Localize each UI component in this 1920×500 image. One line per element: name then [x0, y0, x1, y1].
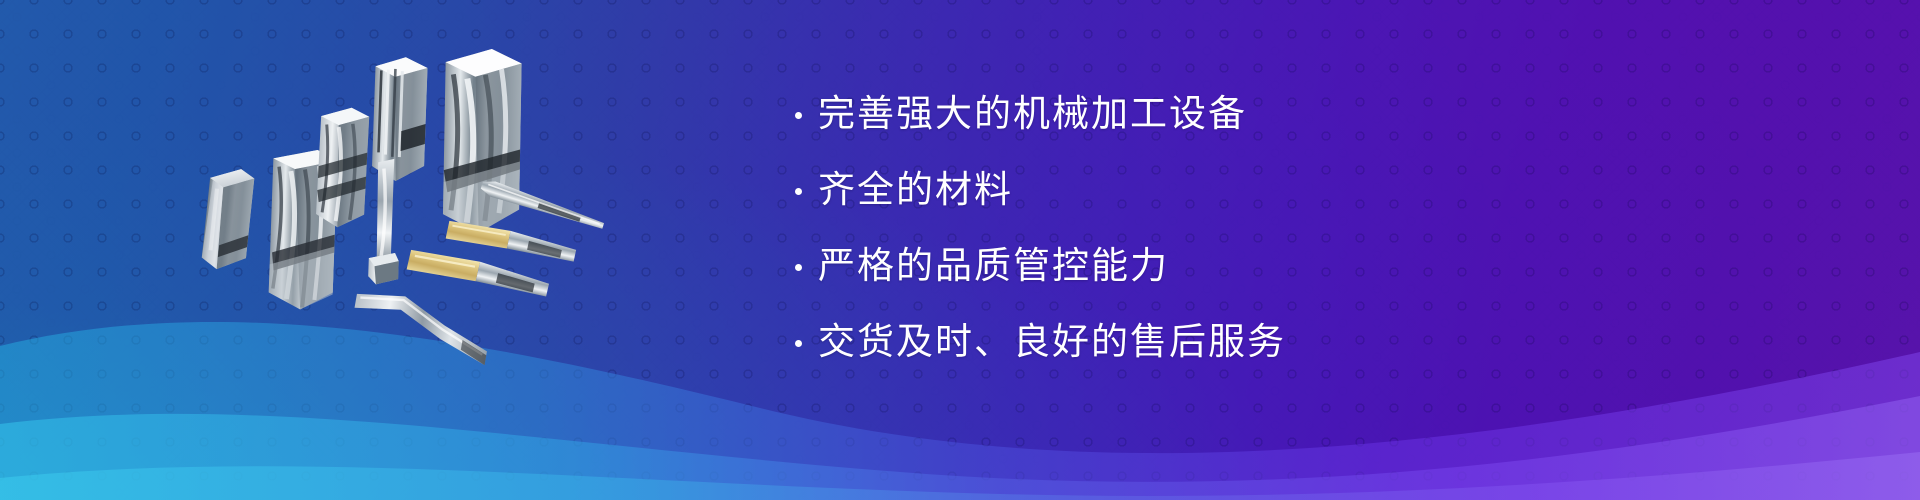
bullet-dot-icon	[795, 264, 802, 271]
feature-text: 交货及时、良好的售后服务	[818, 324, 1286, 361]
promo-banner: 完善强大的机械加工设备 齐全的材料 严格的品质管控能力 交货及时、良好的售后服务	[0, 0, 1920, 500]
feature-list-item: 严格的品质管控能力	[795, 238, 1495, 295]
feature-list-item: 完善强大的机械加工设备	[795, 86, 1495, 143]
bullet-dot-icon	[795, 188, 802, 195]
feature-list-item: 交货及时、良好的售后服务	[795, 314, 1495, 371]
feature-list: 完善强大的机械加工设备 齐全的材料 严格的品质管控能力 交货及时、良好的售后服务	[795, 86, 1495, 371]
feature-text: 齐全的材料	[818, 172, 1013, 209]
bullet-dot-icon	[795, 340, 802, 347]
feature-list-item: 齐全的材料	[795, 162, 1495, 219]
feature-text: 完善强大的机械加工设备	[818, 96, 1247, 133]
product-photo-metal-punch-parts	[0, 0, 740, 500]
bullet-dot-icon	[795, 112, 802, 119]
feature-text: 严格的品质管控能力	[818, 248, 1169, 285]
